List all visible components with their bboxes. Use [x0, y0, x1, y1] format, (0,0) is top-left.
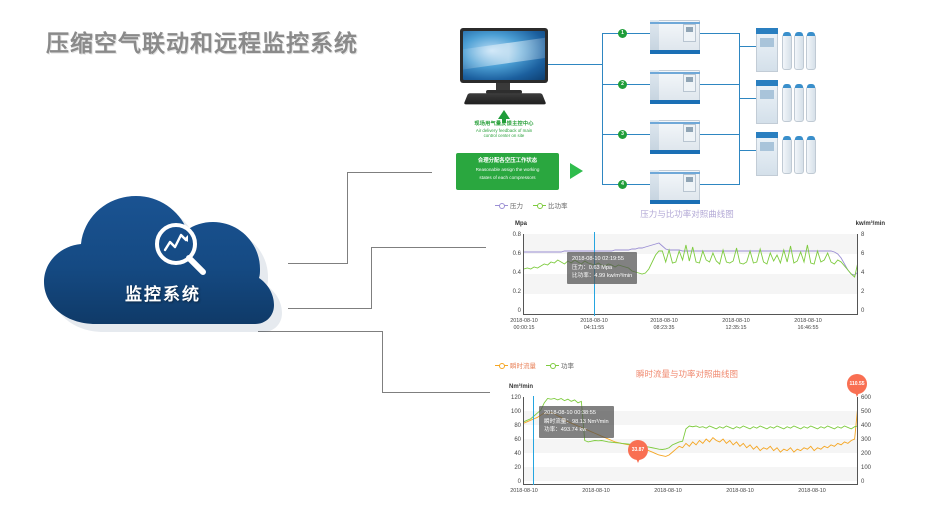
- bus-computer-trunk: [548, 64, 603, 65]
- chart2-xtick-2: 2018-08-10: [641, 488, 695, 495]
- chart-magnifier-icon: [150, 220, 212, 278]
- connector-line-bottom-horiz: [382, 392, 490, 393]
- system-topology-diagram[interactable]: 现场用气量反馈主控中心 Air delivery feedback of mai…: [440, 18, 940, 203]
- chart2-ytick-right-1: 500: [861, 409, 871, 415]
- bus-right-1: [700, 33, 740, 34]
- connector-line-mid-horiz: [371, 247, 486, 248]
- chart2-ytick-right-2: 400: [861, 423, 871, 429]
- chart2-xtick-0: 2018-08-10: [497, 488, 551, 495]
- chart2-ylabel-left: Nm³/min: [509, 384, 533, 390]
- connector-line-mid: [288, 308, 372, 309]
- chart2-right-axis: [857, 397, 858, 485]
- chart2-ytick-left-3: 60: [493, 437, 521, 443]
- control-center-caption-en-2: control center on site: [448, 133, 560, 139]
- air-tank-1b: [794, 34, 804, 70]
- legend-marker-flow: [495, 365, 508, 366]
- bus-out-3: [739, 150, 757, 151]
- working-state-cn: 合理分配各空压工作状态: [456, 158, 559, 165]
- right-arrow-icon: [570, 163, 583, 179]
- air-tank-1c: [806, 34, 816, 70]
- chart1-xtick-4: 2018-08-1016:46:55: [781, 318, 835, 332]
- chart2-ytick-right-0: 600: [861, 395, 871, 401]
- compressor-unit-3: [650, 120, 700, 154]
- chart2-tooltip-line1: 瞬时流量：98.13 Nm³/min: [544, 418, 609, 427]
- chart1-ytick-left-0: 0.8: [497, 232, 521, 238]
- chart2-ytick-right-5: 100: [861, 465, 871, 471]
- chart1-xtick-3: 2018-08-1012:35:15: [709, 318, 763, 332]
- chart2-ytick-right-4: 200: [861, 451, 871, 457]
- green-tree-icon: [498, 110, 510, 119]
- working-state-en-1: Reasonable assign the working: [456, 167, 559, 173]
- chart2-ytick-left-5: 20: [493, 465, 521, 471]
- chart1-ytick-right-4: 0: [861, 308, 864, 314]
- chart2-marker-max[interactable]: 110.55: [847, 374, 867, 394]
- chart2-cursor-line[interactable]: [533, 396, 534, 485]
- node-badge-3: 3: [618, 130, 627, 139]
- connector-line-bottom-vert: [382, 331, 383, 393]
- chart1-ytick-left-2: 0.4: [497, 270, 521, 276]
- bus-out-1: [739, 46, 757, 47]
- chart2-ytick-left-4: 40: [493, 451, 521, 457]
- bus-vertical-main: [602, 33, 603, 185]
- air-tank-2a: [782, 86, 792, 122]
- chart1-title: 压力与比功率对照曲线图: [487, 208, 887, 220]
- chart1-ylabel-right: kw/m³/min: [856, 221, 885, 227]
- chart2-xtick-3: 2018-08-10: [713, 488, 767, 495]
- marker-label-min: 33.87: [628, 440, 648, 460]
- monitor-wallpaper: [463, 31, 545, 80]
- chart1-tooltip-line2: 比功率：4.99 kw/m³/min: [572, 272, 632, 281]
- working-state-callout: 合理分配各空压工作状态 Reasonable assign the workin…: [456, 153, 559, 190]
- marker-label-max: 110.55: [847, 374, 867, 394]
- chart1-ytick-left-3: 0.2: [497, 289, 521, 295]
- air-tank-3b: [794, 138, 804, 174]
- chart2-ytick-left-6: 0: [493, 479, 521, 485]
- chart1-ytick-right-2: 4: [861, 270, 864, 276]
- air-tank-3c: [806, 138, 816, 174]
- connector-line-top-vert: [347, 172, 348, 264]
- connector-line-top-horiz: [347, 172, 432, 173]
- monitoring-system-cloud[interactable]: 监控系统: [38, 196, 288, 336]
- dryer-unit-1: [756, 28, 778, 72]
- air-tank-2b: [794, 86, 804, 122]
- air-tank-3a: [782, 138, 792, 174]
- chart1-ytick-left-4: 0: [497, 308, 521, 314]
- air-tank-2c: [806, 86, 816, 122]
- chart1-right-axis: [857, 234, 858, 315]
- chart2-ytick-right-6: 0: [861, 479, 864, 485]
- chart2-ytick-left-2: 80: [493, 423, 521, 429]
- pressure-specific-power-chart[interactable]: 压力 比功率 压力与比功率对照曲线图 Mpa kw/m³/min 0.8 0.6…: [487, 198, 887, 338]
- compressor-unit-1: [650, 20, 700, 54]
- page-title: 压缩空气联动和远程监控系统: [46, 24, 358, 58]
- bus-right-vertical: [739, 33, 740, 185]
- chart1-tooltip-line1: 压力：0.63 Mpa: [572, 264, 632, 273]
- chart2-tooltip: 2018-08-10 00:38:55 瞬时流量：98.13 Nm³/min 功…: [539, 406, 614, 438]
- chart1-xtick-0: 2018-08-1000:00:15: [497, 318, 551, 332]
- chart2-title: 瞬时流量与功率对照曲线图: [487, 368, 887, 380]
- node-badge-1: 1: [618, 29, 627, 38]
- connector-line-top: [288, 263, 348, 264]
- chart1-tooltip-time: 2018-08-10 02:19:55: [572, 255, 632, 264]
- chart2-tooltip-time: 2018-08-10 00:38:55: [544, 409, 609, 418]
- chart1-xtick-2: 2018-08-1008:23:35: [637, 318, 691, 332]
- chart1-xtick-1: 2018-08-1004:11:55: [567, 318, 621, 332]
- bus-right-2: [700, 84, 740, 85]
- chart2-xtick-4: 2018-08-10: [785, 488, 839, 495]
- chart2-marker-min[interactable]: 33.87: [628, 440, 648, 460]
- node-badge-4: 4: [618, 180, 627, 189]
- cloud-label: 监控系统: [38, 280, 288, 305]
- legend-marker-specific-power: [533, 205, 546, 206]
- air-tank-1a: [782, 34, 792, 70]
- bus-out-2: [739, 98, 757, 99]
- chart1-ytick-right-1: 6: [861, 251, 864, 257]
- compressor-unit-2: [650, 70, 700, 104]
- desktop-computer-icon: [460, 28, 548, 106]
- control-center-caption: 现场用气量反馈主控中心 Air delivery feedback of mai…: [448, 121, 560, 139]
- connector-line-mid-vert: [371, 247, 372, 309]
- dryer-unit-2: [756, 80, 778, 124]
- chart2-xtick-1: 2018-08-10: [569, 488, 623, 495]
- legend-marker-pressure: [495, 205, 508, 206]
- chart2-tooltip-line2: 功率：493.74 kw: [544, 426, 609, 435]
- monitor-screen: [460, 28, 548, 83]
- chart1-ytick-right-0: 8: [861, 232, 864, 238]
- chart1-ytick-right-3: 2: [861, 289, 864, 295]
- flow-power-chart[interactable]: 瞬时流量 功率 瞬时流量与功率对照曲线图 Nm³/min 120 100 80 …: [487, 358, 887, 518]
- chart1-tooltip: 2018-08-10 02:19:55 压力：0.63 Mpa 比功率：4.99…: [567, 252, 637, 284]
- dryer-unit-3: [756, 132, 778, 176]
- bus-right-3: [700, 134, 740, 135]
- chart2-ytick-right-3: 300: [861, 437, 871, 443]
- chart1-ytick-left-1: 0.6: [497, 251, 521, 257]
- node-badge-2: 2: [618, 80, 627, 89]
- chart2-ytick-left-0: 120: [493, 395, 521, 401]
- chart2-ytick-left-1: 100: [493, 409, 521, 415]
- bus-right-4: [700, 184, 740, 185]
- legend-marker-power: [546, 365, 559, 366]
- keyboard-icon: [464, 93, 547, 104]
- working-state-en-2: states of each compressors: [456, 175, 559, 181]
- chart1-ylabel-left: Mpa: [515, 221, 527, 227]
